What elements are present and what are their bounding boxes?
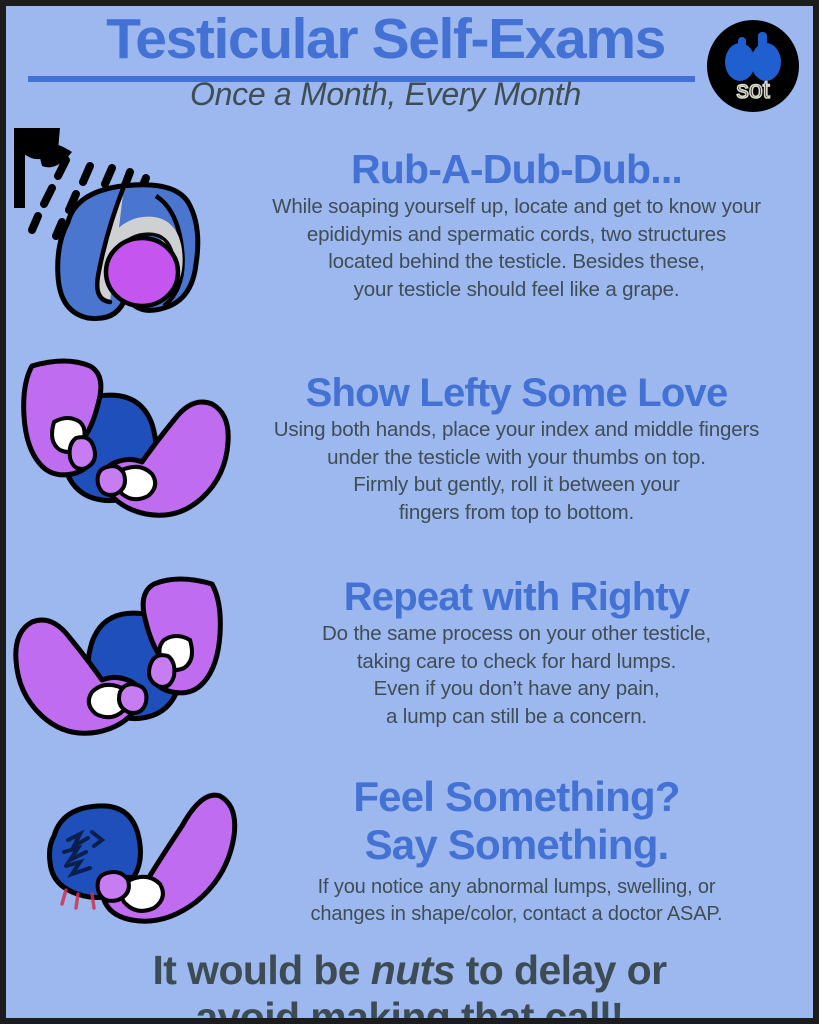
two-hands-examining-left-icon — [6, 352, 238, 547]
logo-wordmark: sot — [736, 76, 769, 104]
illustration-shower-anatomy — [6, 110, 238, 310]
footer-line-2: avoid making that call! — [22, 994, 797, 1024]
body-line: changes in shape/color, contact a doctor… — [238, 901, 795, 928]
two-hands-examining-right-icon — [6, 570, 238, 765]
section-repeat-with-righty: Repeat with Righty Do the same process o… — [6, 564, 813, 764]
footer-text-after: to delay or — [455, 947, 667, 993]
section-body: While soaping yourself up, locate and ge… — [238, 193, 795, 303]
body-line: your testicle should feel like a grape. — [238, 276, 795, 303]
illustration-two-hands-right — [6, 570, 238, 770]
section-copy: Feel Something? Say Something. If you no… — [238, 770, 813, 928]
section-heading-line1: Feel Something? — [238, 774, 795, 820]
shower-testicle-anatomy-icon — [6, 110, 238, 360]
title-row: Testicular Self-Exams — [6, 10, 813, 72]
body-line: Even if you don’t have any pain, — [238, 675, 795, 702]
section-heading: Show Lefty Some Love — [238, 372, 795, 414]
section-body: Do the same process on your other testic… — [238, 620, 795, 730]
brand-logo: sot — [705, 18, 801, 114]
section-feel-something-say-something: Feel Something? Say Something. If you no… — [6, 770, 813, 945]
page-title: Testicular Self-Exams — [104, 10, 667, 72]
body-line: If you notice any abnormal lumps, swelli… — [238, 874, 795, 901]
section-rub-a-dub-dub: Rub-A-Dub-Dub... While soaping yourself … — [6, 144, 813, 344]
logo-icon: sot — [705, 18, 801, 114]
illustration-two-hands-left — [6, 352, 238, 552]
poster-header: Testicular Self-Exams Once a Month, Ever… — [6, 6, 813, 120]
body-line: Do the same process on your other testic… — [238, 620, 795, 647]
section-copy: Show Lefty Some Love Using both hands, p… — [238, 358, 813, 526]
section-copy: Repeat with Righty Do the same process o… — [238, 564, 813, 730]
body-line: located behind the testicle. Besides the… — [238, 248, 795, 275]
section-body: Using both hands, place your index and m… — [238, 416, 795, 526]
section-heading: Repeat with Righty — [238, 576, 795, 618]
section-heading-line2: Say Something. — [238, 822, 795, 868]
hand-painful-lump-icon — [6, 790, 238, 940]
page-subtitle: Once a Month, Every Month — [0, 76, 789, 113]
body-line: Using both hands, place your index and m… — [238, 416, 795, 443]
section-body: If you notice any abnormal lumps, swelli… — [238, 874, 795, 928]
body-line: under the testicle with your thumbs on t… — [238, 444, 795, 471]
illustration-hand-painful-lump — [6, 790, 238, 965]
infographic-poster: Testicular Self-Exams Once a Month, Ever… — [0, 0, 819, 1024]
body-line: While soaping yourself up, locate and ge… — [238, 193, 795, 220]
body-line: taking care to check for hard lumps. — [238, 648, 795, 675]
section-copy: Rub-A-Dub-Dub... While soaping yourself … — [238, 144, 813, 303]
footer-emphasis: nuts — [371, 947, 455, 993]
body-line: Firmly but gently, roll it between your — [238, 471, 795, 498]
body-line: epididymis and spermatic cords, two stru… — [238, 221, 795, 248]
section-heading: Rub-A-Dub-Dub... — [238, 148, 795, 191]
body-line: fingers from top to bottom. — [238, 499, 795, 526]
section-show-lefty-some-love: Show Lefty Some Love Using both hands, p… — [6, 358, 813, 558]
body-line: a lump can still be a concern. — [238, 703, 795, 730]
